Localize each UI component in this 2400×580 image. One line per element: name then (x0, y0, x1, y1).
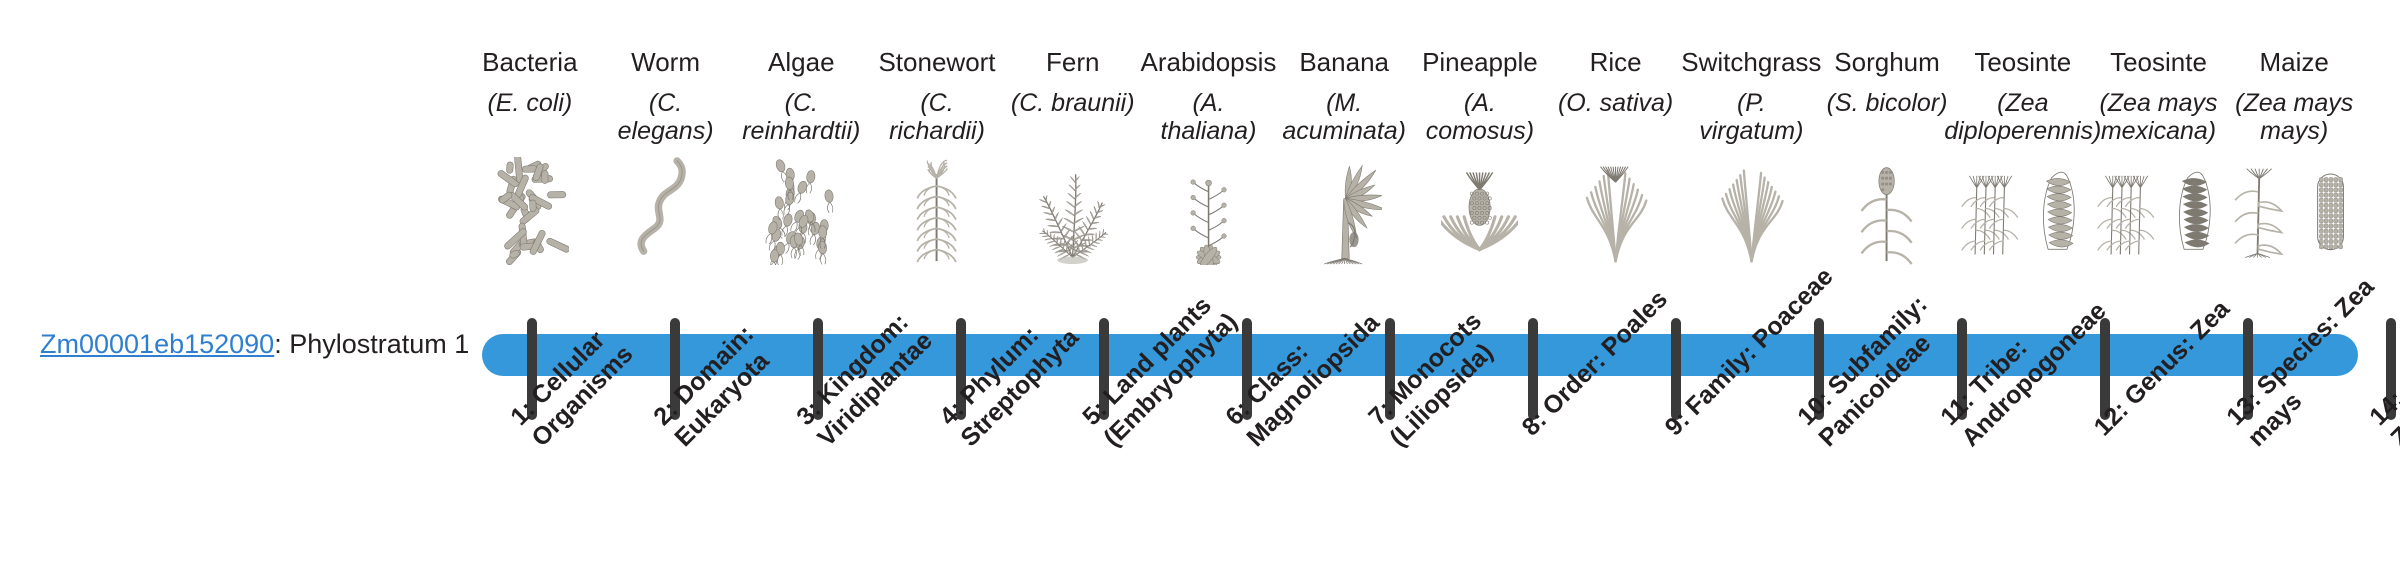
species-scientific-name: (C. richardii) (869, 89, 1005, 151)
species-common-name: Stonewort (878, 48, 995, 80)
species-common-name: Arabidopsis (1141, 48, 1277, 80)
species-scientific-name: (Zea diploperennis) (1942, 89, 2103, 151)
species-common-name: Pineapple (1422, 48, 1538, 80)
phylostratum-value: Phylostratum 1 (289, 329, 469, 359)
algae-icon (733, 153, 869, 265)
gene-phylostratum-label: Zm00001eb152090: Phylostratum 1 (40, 330, 460, 360)
worm-icon (598, 153, 734, 265)
stonewort-icon (869, 153, 1005, 265)
species-scientific-name: (C. elegans) (598, 89, 734, 151)
species-scientific-name: (S. bicolor) (1825, 89, 1950, 151)
gene-label-separator: : (274, 329, 289, 359)
species-common-name: Maize (2260, 48, 2329, 80)
species-common-name: Banana (1299, 48, 1389, 80)
species-scientific-name: (M. acuminata) (1276, 89, 1412, 151)
species-common-name: Bacteria (482, 48, 577, 80)
species-column: Bacteria(E. coli) (462, 48, 598, 308)
sorghum-icon (1819, 153, 1955, 265)
species-scientific-name: (A. thaliana) (1141, 89, 1277, 151)
maize-icon (2226, 153, 2362, 265)
teosinte-diploperennis-icon (1955, 153, 2091, 265)
phylostratum-rank: Kingdom: Viridiplantae (812, 308, 938, 452)
species-scientific-name: (C. braunii) (1009, 89, 1137, 151)
bacteria-icon (462, 153, 598, 265)
species-scientific-name: (Zea mays mexicana) (2091, 89, 2227, 151)
rice-icon (1548, 153, 1684, 265)
species-common-name: Teosinte (2110, 48, 2207, 80)
species-common-name: Rice (1590, 48, 1642, 80)
banana-icon (1276, 153, 1412, 265)
fern-icon (1005, 153, 1141, 265)
species-scientific-name: (A. comosus) (1412, 89, 1548, 151)
switchgrass-icon (1683, 153, 1819, 265)
species-scientific-name: (O. sativa) (1556, 89, 1675, 151)
teosinte-mexicana-icon (2091, 153, 2227, 265)
species-common-name: Switchgrass (1681, 48, 1821, 80)
species-common-name: Algae (768, 48, 835, 80)
species-scientific-name: (E. coli) (485, 89, 574, 151)
phylostratum-number: 12: (2089, 396, 2134, 441)
species-scientific-name: (P. virgatum) (1683, 89, 1819, 151)
species-column: Rice(O. sativa) (1548, 48, 1684, 308)
species-column: Fern(C. braunii) (1005, 48, 1141, 308)
species-scientific-name: (Zea mays mays) (2226, 89, 2362, 151)
phylostratum-rank: Monocots (Liliopsida) (1384, 307, 1498, 452)
species-common-name: Teosinte (1974, 48, 2071, 80)
species-common-name: Worm (631, 48, 700, 80)
phylostratum-figure: Zm00001eb152090: Phylostratum 1 Bacteria… (0, 0, 2400, 580)
phylostratum-rank: Class: Magnoliopsida (1241, 308, 1385, 452)
species-common-name: Sorghum (1834, 48, 1940, 80)
species-scientific-name: (C. reinhardtii) (733, 89, 869, 151)
arabidopsis-icon (1141, 153, 1277, 265)
gene-id-link[interactable]: Zm00001eb152090 (40, 329, 274, 359)
species-common-name: Fern (1046, 48, 1099, 80)
species-column: Switchgrass(P. virgatum) (1683, 48, 1819, 308)
pineapple-icon (1412, 153, 1548, 265)
